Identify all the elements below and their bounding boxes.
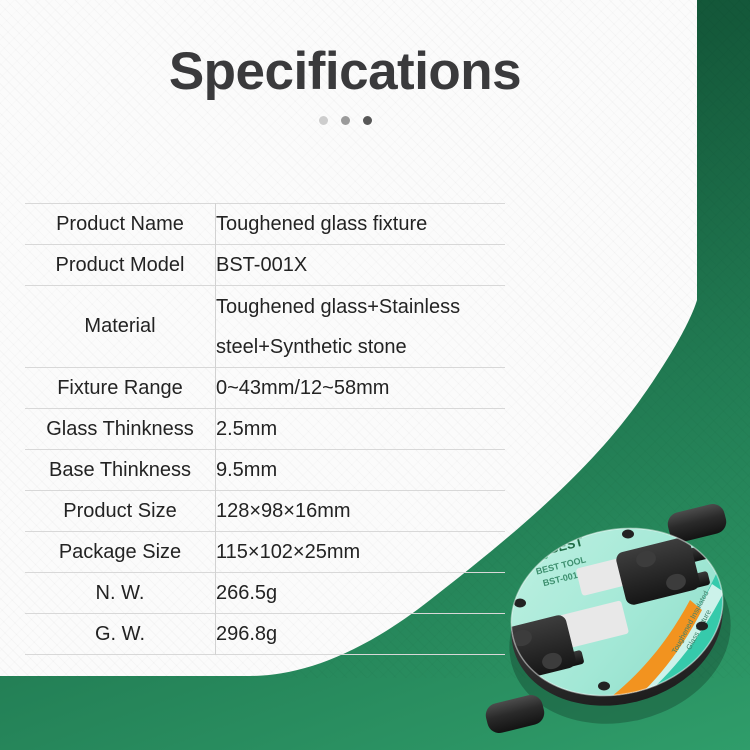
spec-label: Product Name — [25, 204, 216, 245]
spec-value-line: 266.5g — [216, 573, 505, 613]
spec-value: 128×98×16mm — [216, 491, 506, 532]
table-row: Product Name Toughened glass fixture — [25, 204, 505, 245]
spec-value-line: Toughened glass+Stainless — [216, 287, 505, 327]
product-photo: BEST BEST TOOL BST-001X Toughened Insula… — [480, 496, 750, 750]
table-row: Package Size 115×102×25mm — [25, 532, 505, 573]
spec-value-line: 296.8g — [216, 614, 505, 654]
spec-label: G. W. — [25, 614, 216, 655]
table-row: Base Thinkness 9.5mm — [25, 450, 505, 491]
spec-label: Fixture Range — [25, 368, 216, 409]
spec-label: Product Size — [25, 491, 216, 532]
spec-value-line: 0~43mm/12~58mm — [216, 368, 505, 408]
spec-value-line: 115×102×25mm — [216, 532, 505, 572]
spec-value-line: 128×98×16mm — [216, 491, 505, 531]
spec-value: 9.5mm — [216, 450, 506, 491]
spec-value-line: 9.5mm — [216, 450, 505, 490]
spec-value: 2.5mm — [216, 409, 506, 450]
page-title: Specifications — [0, 0, 690, 100]
spec-value: Toughened glass fixture — [216, 204, 506, 245]
spec-value: 266.5g — [216, 573, 506, 614]
dot-medium-icon — [341, 116, 350, 125]
table-row: Glass Thinkness 2.5mm — [25, 409, 505, 450]
table-row: Material Toughened glass+Stainless steel… — [25, 286, 505, 368]
specifications-table: Product Name Toughened glass fixture Pro… — [25, 203, 505, 655]
page-header: Specifications — [0, 0, 690, 125]
knob-bottom-left — [483, 692, 547, 735]
dot-separator — [0, 116, 690, 125]
table-row: N. W. 266.5g — [25, 573, 505, 614]
table-row: Product Size 128×98×16mm — [25, 491, 505, 532]
dot-light-icon — [319, 116, 328, 125]
spec-value-line: steel+Synthetic stone — [216, 327, 505, 367]
spec-label: Product Model — [25, 245, 216, 286]
spec-label: Package Size — [25, 532, 216, 573]
table-row: Product Model BST-001X — [25, 245, 505, 286]
table-row: Fixture Range 0~43mm/12~58mm — [25, 368, 505, 409]
dot-dark-icon — [363, 116, 372, 125]
spec-value-line: 2.5mm — [216, 409, 505, 449]
spec-value: 0~43mm/12~58mm — [216, 368, 506, 409]
spec-label: N. W. — [25, 573, 216, 614]
spec-value: 296.8g — [216, 614, 506, 655]
specifications-page: Specifications Product Name Toughened gl… — [0, 0, 750, 750]
spec-value-line: Toughened glass fixture — [216, 204, 505, 244]
spec-label: Base Thinkness — [25, 450, 216, 491]
table-row: G. W. 296.8g — [25, 614, 505, 655]
spec-value-line: BST-001X — [216, 245, 505, 285]
spec-label: Material — [25, 286, 216, 368]
spec-label: Glass Thinkness — [25, 409, 216, 450]
spec-value: Toughened glass+Stainless steel+Syntheti… — [216, 286, 506, 368]
spec-value: BST-001X — [216, 245, 506, 286]
spec-value: 115×102×25mm — [216, 532, 506, 573]
